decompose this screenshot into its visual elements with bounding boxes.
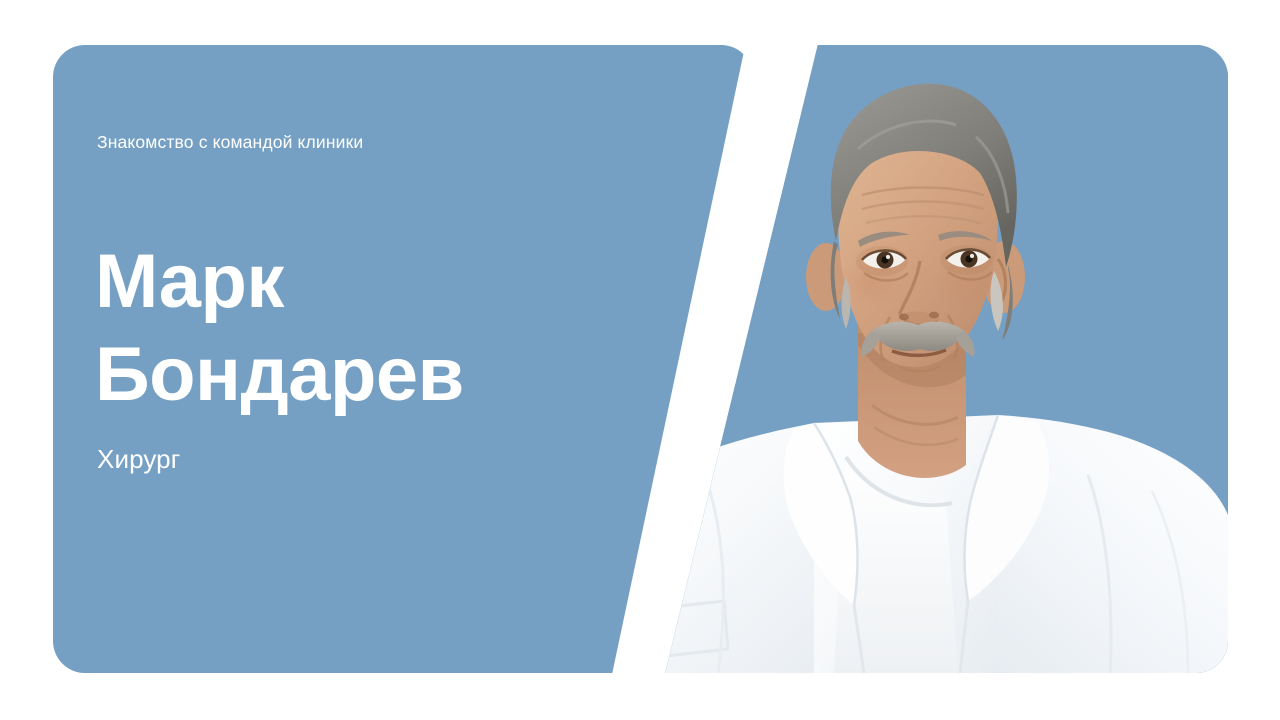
doctor-name-line-1: Марк xyxy=(95,235,615,328)
eyebrow-label: Знакомство с командой клиники xyxy=(97,131,363,153)
profile-info-card: Знакомство с командой клиники Марк Бонда… xyxy=(53,45,753,673)
profile-info-content: Знакомство с командой клиники Марк Бонда… xyxy=(53,45,753,673)
doctor-name: Марк Бондарев xyxy=(95,235,615,421)
slide-canvas: Знакомство с командой клиники Марк Бонда… xyxy=(0,0,1280,720)
doctor-name-line-2: Бондарев xyxy=(95,328,615,421)
doctor-role: Хирург xyxy=(97,443,180,475)
